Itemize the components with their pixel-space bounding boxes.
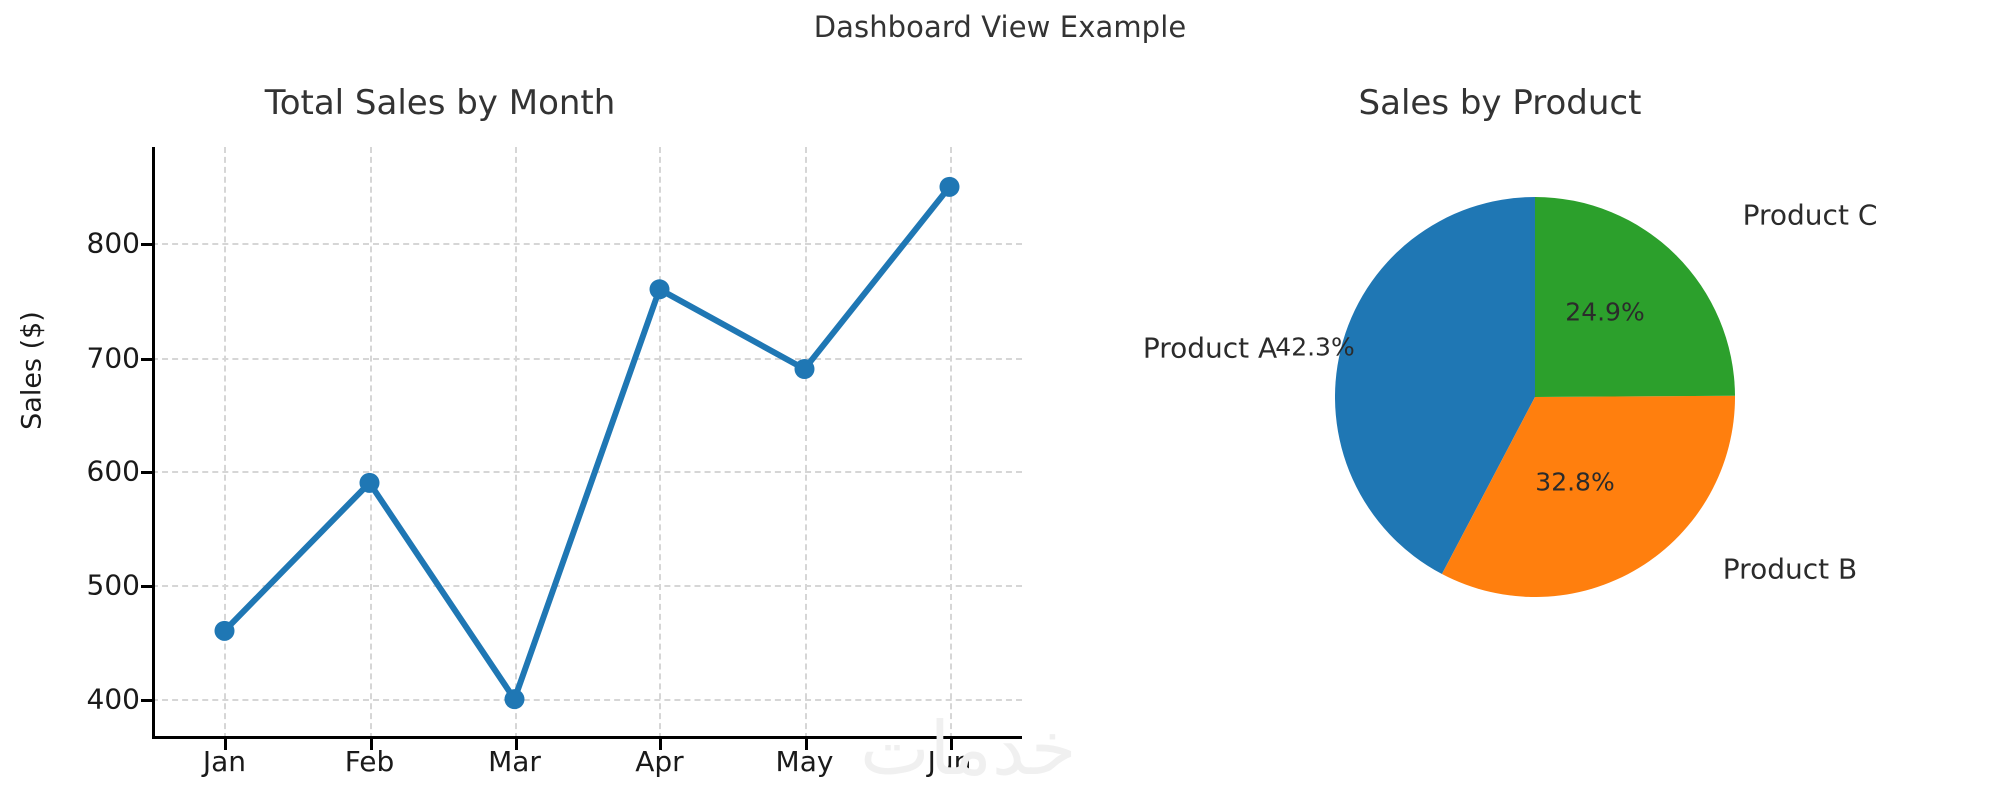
figure-suptitle: Dashboard View Example [0, 10, 2000, 44]
line-chart-y-tick-labels: 800 700 600 500 400 [42, 147, 140, 739]
y-tick-mark-700 [141, 358, 152, 361]
watermark-text: خدمات [860, 712, 1076, 786]
y-tick-label-600: 600 [87, 455, 140, 488]
pie-percent-product-a: 42.3% [1275, 333, 1354, 362]
pie-label-product-a: Product A [1143, 332, 1277, 365]
x-tick-label-may: May [776, 745, 834, 778]
sales-line-series [152, 147, 1022, 739]
line-chart-left-spine [152, 147, 155, 739]
pie-label-product-c: Product C [1743, 199, 1878, 232]
dashboard-figure: Dashboard View Example Total Sales by Mo… [0, 0, 2000, 800]
sales-line-path [225, 187, 950, 699]
pie-percent-product-b: 32.8% [1535, 468, 1614, 497]
y-tick-label-800: 800 [87, 227, 140, 260]
x-tick-label-jan: Jan [203, 745, 246, 778]
data-point-mar [505, 689, 525, 709]
line-chart-plot-area [152, 147, 1022, 739]
pie-chart-title: Sales by Product [1060, 83, 1940, 123]
data-point-apr [650, 279, 670, 299]
pie-percent-product-c: 24.9% [1565, 298, 1644, 327]
x-tick-label-feb: Feb [345, 745, 395, 778]
pie-label-product-b: Product B [1723, 553, 1857, 586]
data-point-feb [360, 473, 380, 493]
y-tick-mark-500 [141, 585, 152, 588]
pie-chart-svg [1335, 197, 1735, 597]
line-chart-panel: Total Sales by Month Sales ($) 800 700 6… [0, 55, 1060, 800]
data-point-jun [940, 177, 960, 197]
sales-line-markers [215, 177, 960, 709]
pie-slice-group [1335, 197, 1735, 597]
y-tick-label-700: 700 [87, 341, 140, 374]
x-tick-label-mar: Mar [488, 745, 541, 778]
x-tick-label-apr: Apr [635, 745, 683, 778]
pie-chart-panel: Sales by Product 42.3% 32.8% 24.9% Produ… [1060, 55, 2000, 800]
y-tick-label-400: 400 [87, 683, 140, 716]
data-point-may [795, 359, 815, 379]
y-tick-mark-600 [141, 471, 152, 474]
y-tick-mark-800 [141, 243, 152, 246]
line-chart-title: Total Sales by Month [0, 83, 880, 123]
pie-chart-plot-area: 42.3% 32.8% 24.9% Product A Product B Pr… [1335, 197, 1735, 597]
data-point-jan [215, 621, 235, 641]
y-tick-mark-400 [141, 699, 152, 702]
y-tick-label-500: 500 [87, 569, 140, 602]
